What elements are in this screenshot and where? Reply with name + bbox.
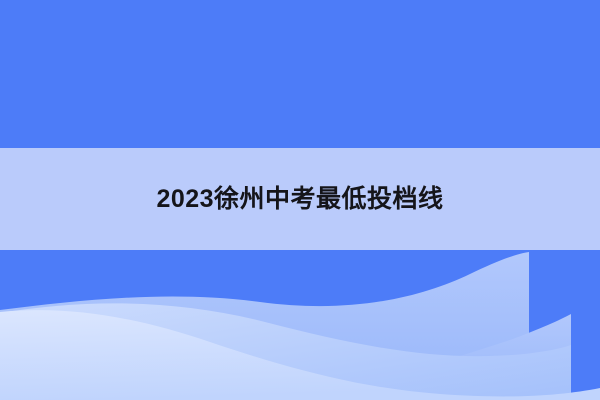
decorative-wave-graphic [0,250,600,400]
top-blue-field [0,0,600,148]
title-band: 2023徐州中考最低投档线 [0,148,600,250]
page-title: 2023徐州中考最低投档线 [156,187,443,212]
banner-image: 2023徐州中考最低投档线 [0,0,600,400]
